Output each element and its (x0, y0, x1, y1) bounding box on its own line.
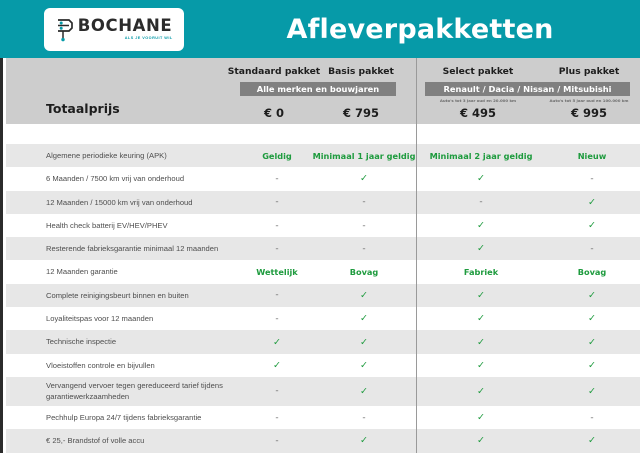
cell-value: Nieuw (522, 144, 640, 167)
cell-value: ✓ (522, 354, 640, 377)
row-label: 6 Maanden / 7500 km vrij van onderhoud (46, 167, 246, 190)
cell-value: ✓ (522, 429, 640, 452)
table-row: Vloeistoffen controle en bijvullen✓✓✓✓ (6, 354, 640, 377)
cell-value: ✓ (309, 307, 419, 330)
cell-value: ✓ (522, 377, 640, 406)
cell-value: ✓ (309, 330, 419, 353)
cell-value: ✓ (309, 284, 419, 307)
cell-value: - (522, 167, 640, 190)
table-row: 12 Maanden garantieWettelijkBovagFabriek… (6, 260, 640, 283)
table-row: Vervangend vervoer tegen gereduceerd tar… (6, 377, 640, 406)
column-name: Plus pakket (519, 66, 640, 77)
brand-bar-1: Alle merken en bouwjaren (240, 82, 396, 96)
column-header-2[interactable]: Basis pakket (306, 66, 416, 77)
table-row: Complete reinigingsbeurt binnen en buite… (6, 284, 640, 307)
table-row: Resterende fabrieksgarantie minimaal 12 … (6, 237, 640, 260)
column-price-2: € 795 (306, 106, 416, 120)
cell-value: - (309, 406, 419, 429)
cell-value: - (522, 237, 640, 260)
page-title: Afleverpakketten (200, 0, 640, 58)
afleverpakketten-page: BOCHANE ALS JE VOORUIT WIL Afleverpakket… (0, 0, 640, 453)
cell-value: - (309, 191, 419, 214)
row-label: Pechhulp Europa 24/7 tijdens fabrieksgar… (46, 406, 246, 429)
row-label: € 25,- Brandstof of volle accu (46, 429, 246, 452)
logo-wordmark: BOCHANE (78, 18, 173, 35)
cell-value: - (309, 214, 419, 237)
bochane-b-mark-icon (56, 18, 73, 42)
table-row: 12 Maanden / 15000 km vrij van onderhoud… (6, 191, 640, 214)
table-row: Algemene periodieke keuring (APK)GeldigM… (6, 144, 640, 167)
column-price-4: € 995 (519, 106, 640, 120)
table-row: Pechhulp Europa 24/7 tijdens fabrieksgar… (6, 406, 640, 429)
column-header-4[interactable]: Plus pakket (519, 66, 640, 77)
table-row: Technische inspectie✓✓✓✓ (6, 330, 640, 353)
feature-rows: Algemene periodieke keuring (APK)GeldigM… (6, 144, 640, 453)
row-label: 12 Maanden garantie (46, 260, 246, 283)
table-row: Health check batterij EV/HEV/PHEV--✓✓ (6, 214, 640, 237)
row-label: Vloeistoffen controle en bijvullen (46, 354, 246, 377)
table-row: 6 Maanden / 7500 km vrij van onderhoud-✓… (6, 167, 640, 190)
cell-value: ✓ (522, 214, 640, 237)
column-name: Basis pakket (306, 66, 416, 77)
row-label: Resterende fabrieksgarantie minimaal 12 … (46, 237, 246, 260)
logo-tagline: ALS JE VOORUIT WIL (124, 37, 172, 41)
cell-value: ✓ (309, 354, 419, 377)
row-label: Loyaliteitspas voor 12 maanden (46, 307, 246, 330)
brand-bar-2: Renault / Dacia / Nissan / Mitsubishi (425, 82, 630, 96)
totaalprijs-label: Totaalprijs (46, 101, 120, 116)
row-label: Complete reinigingsbeurt binnen en buite… (46, 284, 246, 307)
table-row: € 25,- Brandstof of volle accu-✓✓✓ (6, 429, 640, 452)
row-label: Technische inspectie (46, 330, 246, 353)
row-label: Health check batterij EV/HEV/PHEV (46, 214, 246, 237)
cell-value: ✓ (522, 284, 640, 307)
cell-value: - (309, 237, 419, 260)
cell-value: ✓ (522, 330, 640, 353)
cell-value: Bovag (522, 260, 640, 283)
table-row: Loyaliteitspas voor 12 maanden-✓✓✓ (6, 307, 640, 330)
bochane-logo[interactable]: BOCHANE ALS JE VOORUIT WIL (44, 8, 184, 51)
header-spacer (6, 124, 640, 144)
group-divider (416, 58, 417, 453)
cell-value: ✓ (309, 377, 419, 406)
row-label: 12 Maanden / 15000 km vrij van onderhoud (46, 191, 246, 214)
cell-value: ✓ (309, 429, 419, 452)
row-label: Vervangend vervoer tegen gereduceerd tar… (46, 377, 246, 406)
cell-value: - (522, 406, 640, 429)
cell-value: ✓ (309, 167, 419, 190)
header-banner: BOCHANE ALS JE VOORUIT WIL Afleverpakket… (0, 0, 640, 58)
pakketten-table: Totaalprijs Alle merken en bouwjarenStan… (0, 58, 640, 453)
cell-value: Minimaal 1 jaar geldig (309, 144, 419, 167)
column-subnote-4: Auto's tot 5 jaar oud en 100.000 km (519, 98, 640, 103)
cell-value: ✓ (522, 307, 640, 330)
cell-value: Bovag (309, 260, 419, 283)
row-label: Algemene periodieke keuring (APK) (46, 144, 246, 167)
cell-value: ✓ (522, 191, 640, 214)
